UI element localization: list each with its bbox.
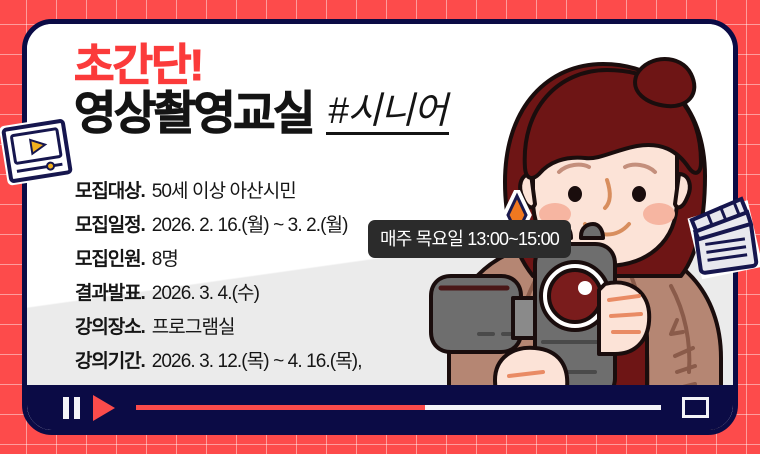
schedule-time-badge: 매주 목요일 13:00~15:00 <box>368 220 571 258</box>
info-row: 강의장소. 프로그램실 <box>75 312 362 339</box>
headline-title: 영상촬영교실 <box>74 90 313 137</box>
headline-kicker: 초간단! <box>74 44 449 89</box>
clapperboard-icon <box>680 188 760 280</box>
video-screen-icon <box>0 112 76 190</box>
info-row: 결과발표. 2026. 3. 4.(수) <box>75 278 362 305</box>
info-list: 모집대상. 50세 이상 아산시민 모집일정. 2026. 2. 16.(월) … <box>75 176 362 373</box>
headline-hashtag: #시니어 <box>326 92 449 135</box>
pause-bar-right <box>74 397 80 419</box>
pause-bar-left <box>63 397 69 419</box>
info-label: 모집인원. <box>75 244 145 271</box>
info-value: 8명 <box>152 244 178 271</box>
play-icon[interactable] <box>93 395 115 421</box>
info-label: 결과발표. <box>75 278 145 305</box>
info-label: 모집일정. <box>75 210 145 237</box>
info-value: 50세 이상 아산시민 <box>152 176 296 203</box>
info-label: 강의기간. <box>75 346 145 373</box>
info-label: 강의장소. <box>75 312 145 339</box>
fullscreen-icon[interactable] <box>682 397 709 418</box>
video-player-controls[interactable] <box>27 385 733 430</box>
info-label: 모집대상. <box>75 176 145 203</box>
poster-canvas: 초간단! 영상촬영교실 #시니어 모집대상. 50세 이상 아산시민 모집일정.… <box>0 0 760 454</box>
progress-bar-fill <box>136 405 425 410</box>
headline-title-row: 영상촬영교실 #시니어 <box>74 90 449 137</box>
info-value: 프로그램실 <box>152 312 235 339</box>
pause-icon[interactable] <box>63 397 80 419</box>
info-value: 2026. 3. 12.(목) ~ 4. 16.(목), <box>152 346 362 373</box>
headline-block: 초간단! 영상촬영교실 #시니어 <box>74 44 449 137</box>
info-row: 모집인원. 8명 <box>75 244 362 271</box>
info-row: 강의기간. 2026. 3. 12.(목) ~ 4. 16.(목), <box>75 346 362 373</box>
info-row: 모집일정. 2026. 2. 16.(월) ~ 3. 2.(월) <box>75 210 362 237</box>
info-value: 2026. 3. 4.(수) <box>152 278 259 305</box>
info-value: 2026. 2. 16.(월) ~ 3. 2.(월) <box>152 210 348 237</box>
info-row: 모집대상. 50세 이상 아산시민 <box>75 176 362 203</box>
progress-bar[interactable] <box>136 405 661 410</box>
poster-card: 초간단! 영상촬영교실 #시니어 모집대상. 50세 이상 아산시민 모집일정.… <box>22 19 738 435</box>
